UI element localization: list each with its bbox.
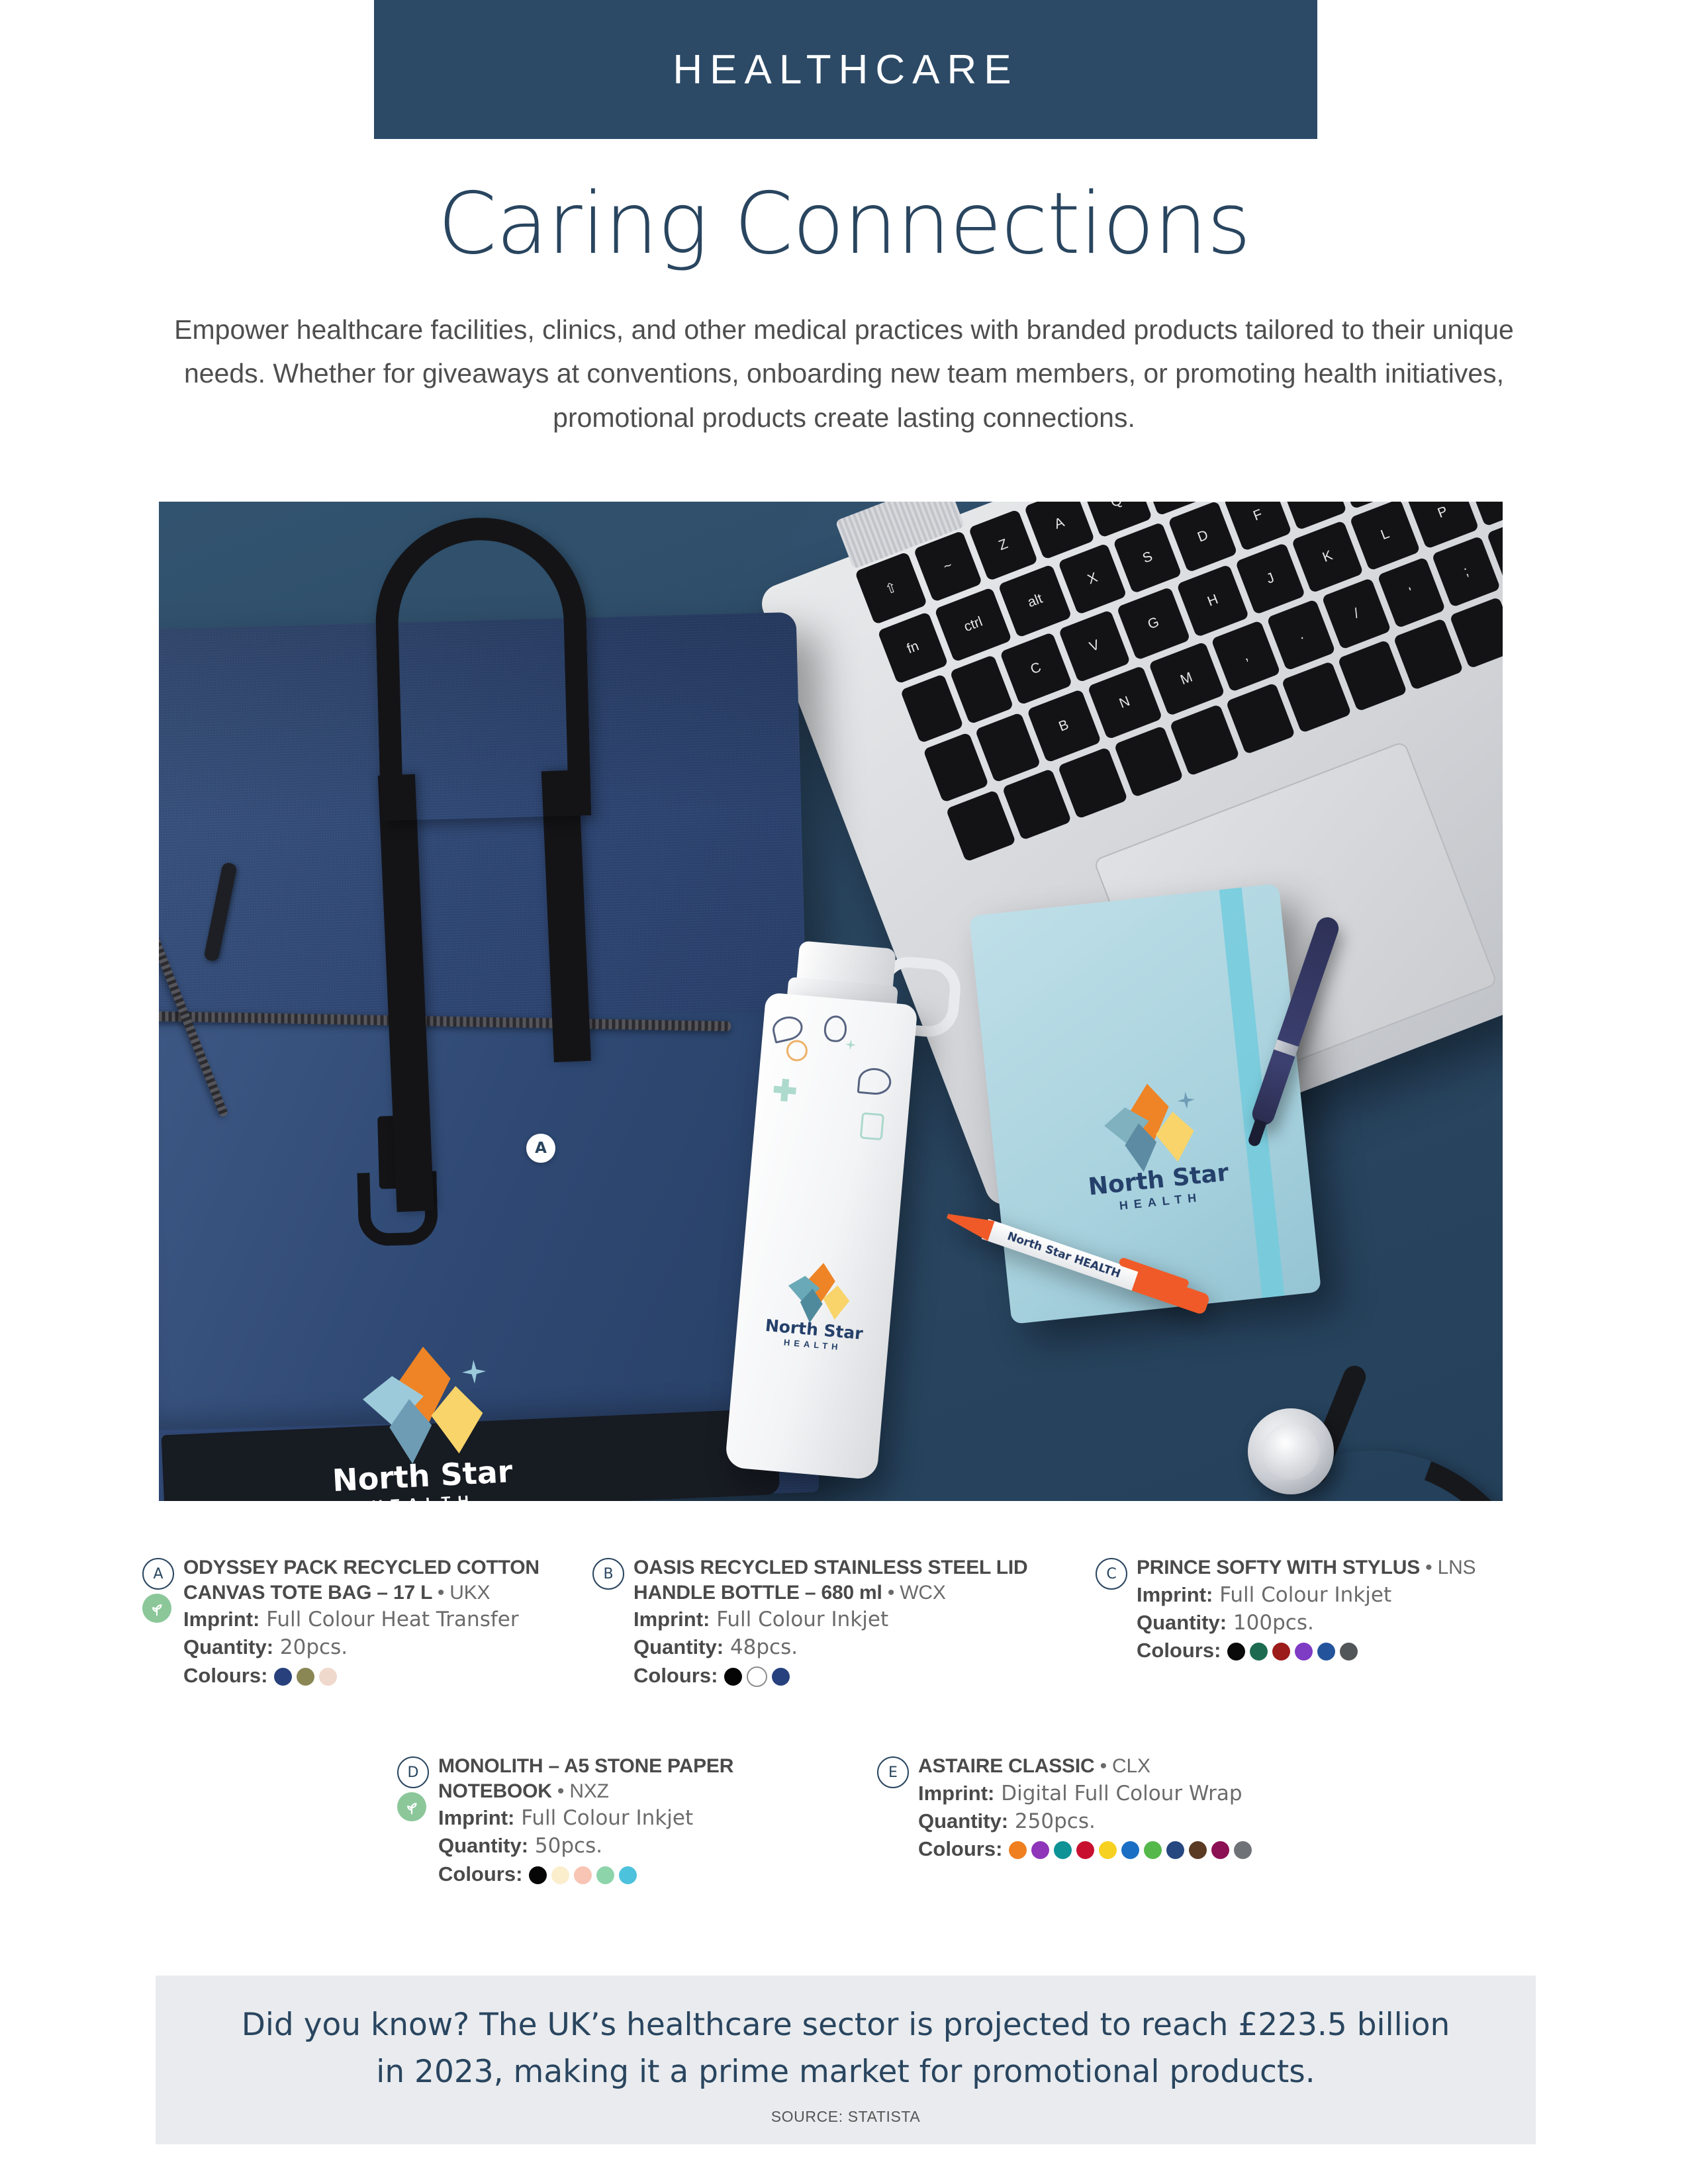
imprint-value: Full Colour Heat Transfer (266, 1608, 518, 1631)
product-quantity: Quantity: 250pcs. (918, 1808, 1327, 1835)
colour-swatch-list (724, 1666, 790, 1687)
keyboard-key: X (1058, 543, 1127, 615)
colour-swatch (772, 1668, 790, 1686)
colour-swatch (1211, 1841, 1229, 1859)
product-details: PRINCE SOFTY WITH STYLUS • LNSImprint: F… (1137, 1555, 1546, 1662)
product-entry-e: EASTAIRE CLASSIC • CLXImprint: Digital F… (877, 1754, 1327, 1861)
imprint-value: Full Colour Inkjet (1219, 1583, 1391, 1607)
product-badges: B (592, 1558, 630, 1590)
product-entry-c: CPRINCE SOFTY WITH STYLUS • LNSImprint: … (1096, 1555, 1546, 1662)
fact-source: SOURCE: STATISTA (156, 2108, 1536, 2126)
product-imprint: Imprint: Digital Full Colour Wrap (918, 1780, 1327, 1807)
colour-swatch (274, 1668, 292, 1686)
colour-swatch-list (529, 1866, 637, 1884)
imprint-label: Imprint: (438, 1806, 514, 1829)
colours-label: Colours: (633, 1664, 718, 1688)
fact-text: Did you know? The UK’s healthcare sector… (235, 2002, 1456, 2095)
keyboard-key: M (1148, 641, 1225, 716)
stethoscope-chestpiece (1248, 1408, 1334, 1494)
product-badges: C (1096, 1558, 1133, 1590)
product-badges: E (877, 1756, 914, 1788)
product-name: ASTAIRE CLASSIC • CLX (918, 1754, 1327, 1779)
quantity-label: Quantity: (633, 1635, 724, 1659)
doodle-flask (823, 1015, 847, 1043)
logo-star-accent (1176, 1091, 1196, 1110)
colour-swatch (1234, 1841, 1252, 1859)
colour-swatch (747, 1666, 767, 1687)
keyboard-key: V (1058, 610, 1131, 682)
colour-swatch-list (1227, 1643, 1358, 1661)
quantity-value: 50pcs. (535, 1834, 602, 1858)
colour-swatch (319, 1668, 337, 1686)
product-badges: A (142, 1558, 179, 1623)
colour-swatch (1144, 1841, 1162, 1859)
keyboard-key: G (1117, 587, 1191, 660)
eco-leaf-icon (142, 1594, 171, 1623)
imprint-value: Full Colour Inkjet (716, 1608, 888, 1631)
quantity-value: 20pcs. (280, 1635, 348, 1659)
product-title: OASIS RECYCLED STAINLESS STEEL LID HANDL… (633, 1557, 1028, 1604)
product-entry-d: DMONOLITH – A5 STONE PAPER NOTEBOOK • NX… (397, 1754, 808, 1886)
quantity-label: Quantity: (438, 1834, 528, 1857)
product-badges: D (397, 1756, 434, 1821)
product-quantity: Quantity: 50pcs. (438, 1833, 808, 1859)
colour-swatch (1076, 1841, 1094, 1859)
doodle-speech-bubble-2 (857, 1067, 892, 1096)
product-colours: Colours: (918, 1837, 1327, 1861)
colours-label: Colours: (183, 1664, 267, 1688)
colour-swatch (1031, 1841, 1049, 1859)
keyboard-key: K (1291, 520, 1364, 593)
product-title: ASTAIRE CLASSIC (918, 1755, 1100, 1777)
keyboard-key: H (1176, 564, 1250, 637)
colours-label: Colours: (438, 1862, 522, 1886)
colour-swatch-list (1009, 1841, 1252, 1859)
keyboard-key: B (1027, 689, 1102, 763)
product-letter-badge: C (1096, 1558, 1127, 1590)
product-entry-a: AODYSSEY PACK RECYCLED COTTON CANVAS TOT… (142, 1555, 579, 1688)
product-sku: • NXZ (557, 1780, 609, 1802)
logo-mark (1092, 1079, 1199, 1171)
colour-swatch (1227, 1643, 1245, 1661)
colour-swatch (297, 1668, 314, 1686)
product-colours: Colours: (1137, 1639, 1546, 1662)
colour-swatch (724, 1668, 742, 1686)
product-letter-badge: E (877, 1756, 909, 1788)
quantity-value: 48pcs. (730, 1635, 798, 1659)
product-colours: Colours: (438, 1862, 808, 1886)
product-quantity: Quantity: 100pcs. (1137, 1610, 1546, 1636)
doodle-jar (860, 1112, 884, 1140)
product-quantity: Quantity: 20pcs. (183, 1634, 579, 1661)
colour-swatch (1009, 1841, 1027, 1859)
product-letter-badge: B (592, 1558, 624, 1590)
product-details: MONOLITH – A5 STONE PAPER NOTEBOOK • NXZ… (438, 1754, 808, 1886)
did-you-know-box: Did you know? The UK’s healthcare sector… (156, 1976, 1536, 2144)
keyboard-key: L (1350, 502, 1421, 571)
quantity-label: Quantity: (1137, 1611, 1227, 1634)
colour-swatch-list (274, 1668, 337, 1686)
hero-product-photo: ⇧~ZAQRT56789fnctrlaltXSDFYUIO0CVGHJKLP[]… (159, 502, 1503, 1501)
keyboard-key: , (1211, 620, 1280, 692)
colour-swatch (1166, 1841, 1184, 1859)
keyboard-key: / (1322, 578, 1391, 650)
healthcare-banner: HEALTHCARE (374, 0, 1317, 139)
product-quantity: Quantity: 48pcs. (633, 1634, 1056, 1661)
imprint-value: Full Colour Inkjet (521, 1806, 693, 1830)
colour-swatch (574, 1866, 592, 1884)
colour-swatch (619, 1866, 637, 1884)
colours-label: Colours: (1137, 1639, 1221, 1662)
notebook-brand-logo: North Star HEALTH (1072, 1075, 1237, 1216)
colour-swatch (1189, 1841, 1207, 1859)
product-sku: • UKX (438, 1582, 491, 1604)
keyboard-key: N (1087, 666, 1162, 740)
doodle-molecule (786, 1039, 809, 1062)
product-imprint: Imprint: Full Colour Inkjet (633, 1606, 1056, 1633)
colour-swatch (596, 1866, 614, 1884)
keyboard-key: . (1266, 599, 1336, 671)
imprint-label: Imprint: (183, 1608, 259, 1631)
keyboard-key: ; (1431, 535, 1501, 608)
product-title: PRINCE SOFTY WITH STYLUS (1137, 1557, 1425, 1578)
colour-swatch (1099, 1841, 1117, 1859)
colour-swatch (1054, 1841, 1072, 1859)
product-details: ASTAIRE CLASSIC • CLXImprint: Digital Fu… (918, 1754, 1327, 1861)
colour-swatch (529, 1866, 547, 1884)
keyboard-key: ' (1377, 557, 1446, 628)
imprint-label: Imprint: (918, 1782, 994, 1805)
product-letter-badge: A (142, 1558, 174, 1590)
product-name: ODYSSEY PACK RECYCLED COTTON CANVAS TOTE… (183, 1555, 579, 1605)
logo-mark (350, 1343, 487, 1459)
colour-swatch (551, 1866, 569, 1884)
quantity-label: Quantity: (918, 1809, 1008, 1833)
page-title: Caring Connections (0, 180, 1688, 269)
keyboard-key: S (1113, 522, 1182, 594)
bag-handle-loop (373, 515, 592, 821)
product-name: MONOLITH – A5 STONE PAPER NOTEBOOK • NXZ (438, 1754, 808, 1803)
colour-swatch (1121, 1841, 1139, 1859)
imprint-label: Imprint: (633, 1608, 710, 1631)
imprint-label: Imprint: (1137, 1583, 1213, 1606)
quantity-label: Quantity: (183, 1635, 273, 1659)
colour-swatch (1317, 1643, 1335, 1661)
eco-leaf-icon (397, 1792, 426, 1821)
keyboard-key: C (1000, 632, 1073, 705)
quantity-value: 100pcs. (1233, 1611, 1314, 1635)
product-letter-badge: D (397, 1756, 429, 1788)
intro-paragraph: Empower healthcare facilities, clinics, … (149, 308, 1539, 439)
bottle-brand-logo: North Star HEALTH (758, 1258, 874, 1355)
pen-metal-band (1274, 1040, 1298, 1057)
quantity-value: 250pcs. (1015, 1809, 1096, 1833)
product-imprint: Imprint: Full Colour Heat Transfer (183, 1606, 579, 1633)
keyboard-key (974, 712, 1041, 783)
colour-swatch (1272, 1643, 1290, 1661)
colours-label: Colours: (918, 1837, 1002, 1861)
product-sku: • LNS (1425, 1557, 1476, 1578)
product-imprint: Imprint: Full Colour Inkjet (438, 1805, 808, 1831)
product-sku: • CLX (1100, 1755, 1150, 1777)
imprint-value: Digital Full Colour Wrap (1001, 1782, 1242, 1805)
colour-swatch (1295, 1643, 1313, 1661)
tote-bag-image: North Star HEALTH (159, 612, 819, 1501)
bag-brand-logo: North Star HEALTH (306, 1342, 534, 1501)
keyboard-key: alt (998, 564, 1072, 638)
colour-swatch (1250, 1643, 1268, 1661)
product-imprint: Imprint: Full Colour Inkjet (1137, 1582, 1546, 1608)
logo-mark (780, 1259, 854, 1322)
photo-marker-a: A (526, 1134, 555, 1163)
doodle-cross (773, 1078, 797, 1103)
keyboard-key: J (1235, 543, 1305, 615)
keyboard-key: D (1168, 502, 1239, 572)
product-colours: Colours: (633, 1664, 1056, 1688)
product-details: OASIS RECYCLED STAINLESS STEEL LID HANDL… (633, 1555, 1056, 1688)
product-sku: • WCX (888, 1582, 946, 1604)
banner-title: HEALTHCARE (673, 46, 1018, 93)
logo-star-accent (461, 1359, 487, 1385)
product-name: PRINCE SOFTY WITH STYLUS • LNS (1137, 1555, 1546, 1580)
product-entry-b: BOASIS RECYCLED STAINLESS STEEL LID HAND… (592, 1555, 1056, 1688)
doodle-speech-bubble (770, 1013, 805, 1043)
product-colours: Colours: (183, 1664, 579, 1688)
product-details: ODYSSEY PACK RECYCLED COTTON CANVAS TOTE… (183, 1555, 579, 1688)
doodle-sparkle (845, 1039, 856, 1050)
colour-swatch (1340, 1643, 1358, 1661)
product-name: OASIS RECYCLED STAINLESS STEEL LID HANDL… (633, 1555, 1056, 1605)
